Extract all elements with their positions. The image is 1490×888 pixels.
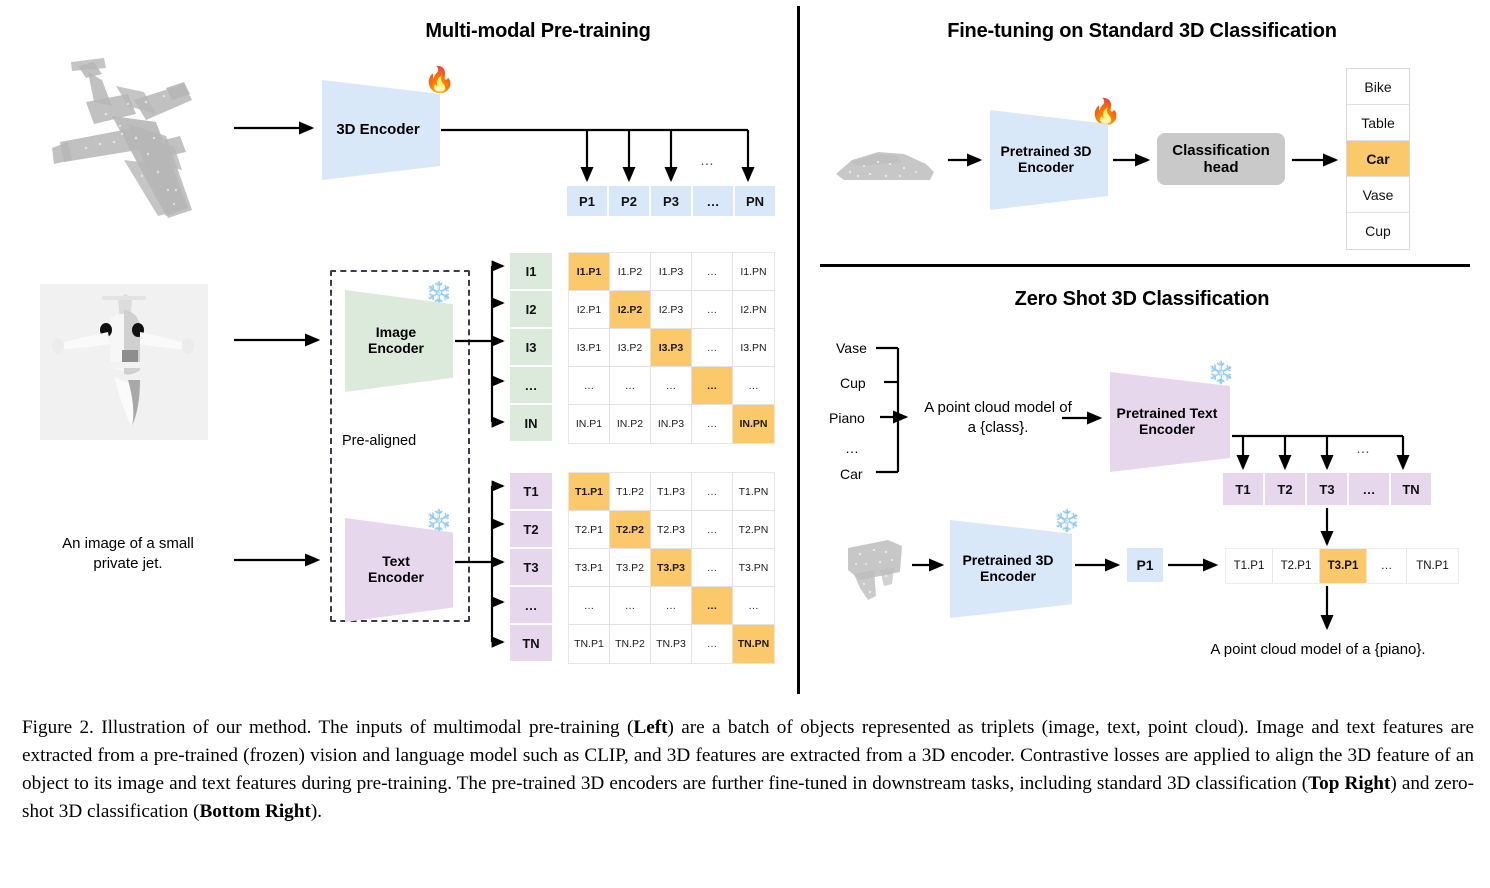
- token-p1: P1: [566, 185, 608, 217]
- token-tdots: …: [509, 586, 553, 624]
- zs-token-tdots: …: [1348, 472, 1390, 506]
- zeroshot-class-car: Car: [840, 466, 863, 482]
- class-label-item[interactable]: Bike: [1347, 69, 1409, 105]
- matrix-cell: …: [692, 329, 733, 367]
- zeroshot-class-cup: Cup: [840, 375, 866, 391]
- snowflake-icon-image-encoder: ❄️: [425, 282, 452, 304]
- caption-part-4: ).: [311, 801, 322, 822]
- vertical-divider: [797, 6, 800, 694]
- encoder-image: Image Encoder: [345, 290, 453, 392]
- matrix-cell: I1.P1: [569, 253, 610, 291]
- matrix-cell: I1.PN: [733, 253, 774, 291]
- zs-sim-cell: T1.P1: [1226, 549, 1273, 583]
- matrix-row: TN.P1 TN.P2 TN.P3 … TN.PN: [569, 625, 774, 663]
- token-i3: I3: [509, 328, 553, 366]
- text-input-caption: An image of a small private jet.: [28, 534, 228, 573]
- image-point-similarity-matrix: I1.P1 I1.P2 I1.P3 … I1.PN I2.P1 I2.P2 I2…: [568, 252, 775, 444]
- pretrained-text-encoder: Pretrained Text Encoder: [1110, 372, 1230, 472]
- classification-head-label: Classification head: [1172, 142, 1270, 177]
- point-feature-row: P1 P2 P3 … PN: [566, 185, 776, 217]
- matrix-cell: T3.PN: [733, 549, 774, 587]
- zs-token-tn: TN: [1390, 472, 1432, 506]
- pretrained-3d-encoder-label: Pretrained 3D Encoder: [1000, 144, 1097, 175]
- top-right-panel-title: Fine-tuning on Standard 3D Classificatio…: [812, 20, 1472, 43]
- matrix-row: T2.P1 T2.P2 T2.P3 … T2.PN: [569, 511, 774, 549]
- token-t2: T2: [509, 510, 553, 548]
- matrix-cell: TN.P2: [610, 625, 651, 663]
- matrix-row: IN.P1 IN.P2 IN.P3 … IN.PN: [569, 405, 774, 443]
- zeroshot-similarity-row: T1.P1 T2.P1 T3.P1 … TN.P1: [1225, 548, 1459, 584]
- matrix-cell: I1.P2: [610, 253, 651, 291]
- matrix-cell: T2.P3: [651, 511, 692, 549]
- matrix-cell: I3.P2: [610, 329, 651, 367]
- matrix-cell: T2.PN: [733, 511, 774, 549]
- pretrained-3d-encoder-zeroshot: Pretrained 3D Encoder: [950, 520, 1072, 618]
- matrix-cell: T1.P2: [610, 473, 651, 511]
- matrix-cell: T1.P3: [651, 473, 692, 511]
- left-panel-title: Multi-modal Pre-training: [278, 20, 798, 43]
- class-label-item-selected[interactable]: Car: [1347, 141, 1409, 177]
- classification-head: Classification head: [1157, 133, 1285, 185]
- matrix-cell: IN.P2: [610, 405, 651, 443]
- token-in: IN: [509, 404, 553, 442]
- matrix-cell: …: [610, 587, 651, 625]
- snowflake-icon-text-encoder-zs: ❄️: [1207, 362, 1234, 384]
- zs-sim-cell: …: [1367, 549, 1407, 583]
- token-t3: T3: [509, 548, 553, 586]
- matrix-cell: …: [692, 549, 733, 587]
- image-feature-column: I1 I2 I3 … IN: [509, 252, 553, 442]
- fire-icon: 🔥: [424, 68, 455, 93]
- zs-token-t3: T3: [1306, 472, 1348, 506]
- point-feature-p1: P1: [1127, 548, 1163, 582]
- matrix-cell: …: [651, 367, 692, 405]
- encoder-image-label: Image Encoder: [368, 325, 430, 356]
- prealigned-label: Pre-aligned: [342, 433, 416, 449]
- text-feature-column: T1 T2 T3 … TN: [509, 472, 553, 662]
- matrix-cell: …: [692, 253, 733, 291]
- matrix-row: I1.P1 I1.P2 I1.P3 … I1.PN: [569, 253, 774, 291]
- matrix-cell: …: [692, 367, 733, 405]
- matrix-row: I3.P1 I3.P2 I3.P3 … I3.PN: [569, 329, 774, 367]
- matrix-cell: …: [733, 367, 774, 405]
- piano-point-cloud: [840, 530, 920, 610]
- matrix-cell: T3.P3: [651, 549, 692, 587]
- class-label-item[interactable]: Vase: [1347, 177, 1409, 213]
- matrix-cell: TN.PN: [733, 625, 774, 663]
- encoder-text-label: Text Encoder: [368, 554, 430, 585]
- matrix-cell: T3.P1: [569, 549, 610, 587]
- token-i1: I1: [509, 252, 553, 290]
- matrix-cell: IN.PN: [733, 405, 774, 443]
- zs-sim-cell-highlighted: T3.P1: [1320, 549, 1367, 583]
- matrix-cell: T2.P2: [610, 511, 651, 549]
- zeroshot-token-row-ellipsis: …: [1356, 440, 1370, 456]
- class-label-item[interactable]: Table: [1347, 105, 1409, 141]
- token-idots: …: [509, 366, 553, 404]
- airplane-point-cloud: [16, 44, 246, 234]
- car-point-cloud: [830, 138, 940, 190]
- zeroshot-text-token-row: T1 T2 T3 … TN: [1222, 472, 1432, 506]
- matrix-cell: I2.P2: [610, 291, 651, 329]
- zeroshot-class-vase: Vase: [836, 340, 867, 356]
- zs-sim-cell: TN.P1: [1407, 549, 1458, 583]
- matrix-cell: …: [692, 511, 733, 549]
- zeroshot-class-ellipsis: …: [845, 440, 859, 456]
- jet-image: [40, 284, 208, 440]
- encoder-3d-label: 3D Encoder: [336, 122, 425, 139]
- zeroshot-class-piano: Piano: [829, 410, 865, 426]
- matrix-cell: IN.P1: [569, 405, 610, 443]
- matrix-cell: I2.PN: [733, 291, 774, 329]
- matrix-cell: …: [692, 473, 733, 511]
- prompt-template: A point cloud model of a {class}.: [908, 398, 1088, 437]
- figure-caption: Figure 2. Illustration of our method. Th…: [22, 714, 1474, 826]
- matrix-cell: …: [569, 367, 610, 405]
- text-point-similarity-matrix: T1.P1 T1.P2 T1.P3 … T1.PN T2.P1 T2.P2 T2…: [568, 472, 775, 664]
- matrix-cell: I3.PN: [733, 329, 774, 367]
- caption-bold-left: Left: [633, 717, 667, 738]
- matrix-cell: …: [692, 291, 733, 329]
- matrix-cell: T3.P2: [610, 549, 651, 587]
- matrix-cell: TN.P3: [651, 625, 692, 663]
- matrix-cell: …: [692, 405, 733, 443]
- matrix-cell: T2.P1: [569, 511, 610, 549]
- matrix-row: … … … … …: [569, 367, 774, 405]
- matrix-cell: I2.P3: [651, 291, 692, 329]
- matrix-cell: …: [610, 367, 651, 405]
- figure-canvas: Multi-modal Pre-training: [0, 0, 1490, 700]
- matrix-cell: T1.P1: [569, 473, 610, 511]
- horizontal-divider: [820, 264, 1470, 267]
- matrix-row: I2.P1 I2.P2 I2.P3 … I2.PN: [569, 291, 774, 329]
- zeroshot-result-text: A point cloud model of a {piano}.: [1168, 640, 1468, 660]
- caption-bold-bottom-right: Bottom Right: [199, 801, 310, 822]
- token-tn: TN: [509, 624, 553, 662]
- matrix-cell: I1.P3: [651, 253, 692, 291]
- matrix-cell: I2.P1: [569, 291, 610, 329]
- caption-bold-top-right: Top Right: [1308, 773, 1390, 794]
- snowflake-icon-text-encoder: ❄️: [425, 510, 452, 532]
- point-row-ellipsis: …: [700, 152, 714, 168]
- matrix-cell: …: [692, 625, 733, 663]
- encoder-text: Text Encoder: [345, 518, 453, 622]
- zs-token-t1: T1: [1222, 472, 1264, 506]
- matrix-cell: T1.PN: [733, 473, 774, 511]
- matrix-cell: …: [651, 587, 692, 625]
- matrix-cell: IN.P3: [651, 405, 692, 443]
- matrix-cell: TN.P1: [569, 625, 610, 663]
- snowflake-icon-3d-encoder-zs: ❄️: [1053, 510, 1080, 532]
- token-i2: I2: [509, 290, 553, 328]
- class-label-list: Bike Table Car Vase Cup: [1346, 68, 1410, 250]
- pretrained-3d-encoder-finetune: Pretrained 3D Encoder: [990, 110, 1108, 210]
- bottom-right-panel-title: Zero Shot 3D Classification: [812, 288, 1472, 311]
- token-pdots: …: [692, 185, 734, 217]
- matrix-cell: I3.P3: [651, 329, 692, 367]
- token-t1: T1: [509, 472, 553, 510]
- zs-token-t2: T2: [1264, 472, 1306, 506]
- matrix-cell: …: [569, 587, 610, 625]
- token-p2: P2: [608, 185, 650, 217]
- encoder-3d: 3D Encoder: [322, 80, 440, 180]
- token-pn: PN: [734, 185, 776, 217]
- matrix-cell: …: [692, 587, 733, 625]
- pretrained-text-encoder-label: Pretrained Text Encoder: [1117, 406, 1224, 437]
- token-p3: P3: [650, 185, 692, 217]
- matrix-row: T1.P1 T1.P2 T1.P3 … T1.PN: [569, 473, 774, 511]
- fire-icon-finetune: 🔥: [1090, 100, 1121, 125]
- pretrained-3d-encoder-zs-label: Pretrained 3D Encoder: [962, 553, 1059, 584]
- matrix-cell: …: [733, 587, 774, 625]
- matrix-cell: I3.P1: [569, 329, 610, 367]
- matrix-row: … … … … …: [569, 587, 774, 625]
- caption-part-1: Figure 2. Illustration of our method. Th…: [22, 717, 633, 738]
- zs-sim-cell: T2.P1: [1273, 549, 1320, 583]
- class-label-item[interactable]: Cup: [1347, 213, 1409, 249]
- matrix-row: T3.P1 T3.P2 T3.P3 … T3.PN: [569, 549, 774, 587]
